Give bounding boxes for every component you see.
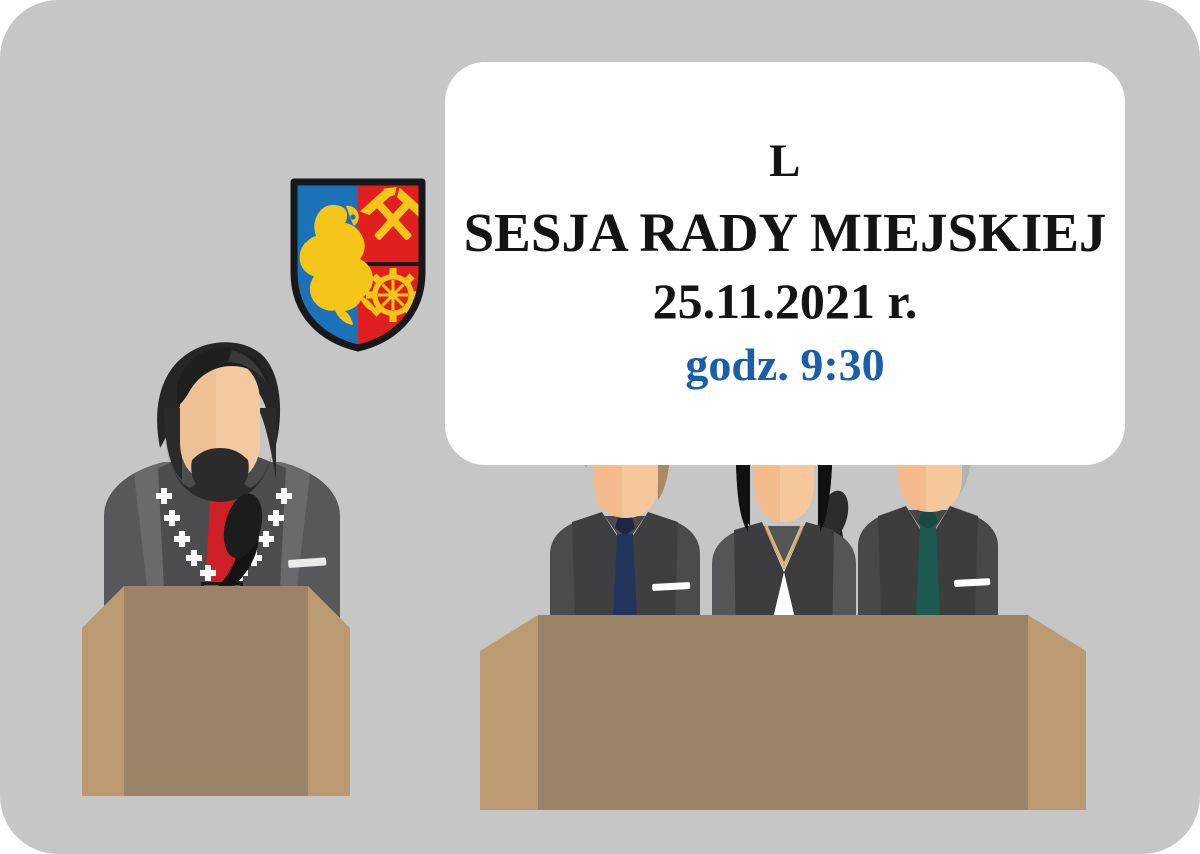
shield-divider (358, 262, 428, 266)
announcement-time: godz. 9:30 (685, 340, 884, 391)
speaker-podium (82, 584, 350, 796)
desk-front-panel (538, 615, 1028, 810)
announcement-date: 25.11.2021 r. (653, 274, 918, 329)
session-announcement-poster: L SESJA RADY MIEJSKIEJ 25.11.2021 r. god… (0, 0, 1200, 854)
announcement-card: L SESJA RADY MIEJSKIEJ 25.11.2021 r. god… (445, 62, 1125, 465)
coat-of-arms (288, 176, 428, 354)
session-number: L (769, 138, 801, 185)
council-desk (480, 613, 1086, 810)
announcement-title: SESJA RADY MIEJSKIEJ (464, 202, 1107, 264)
poster-background-panel: L SESJA RADY MIEJSKIEJ 25.11.2021 r. god… (0, 0, 1200, 854)
podium-front-panel (124, 586, 308, 796)
eagle-eye (350, 214, 355, 219)
